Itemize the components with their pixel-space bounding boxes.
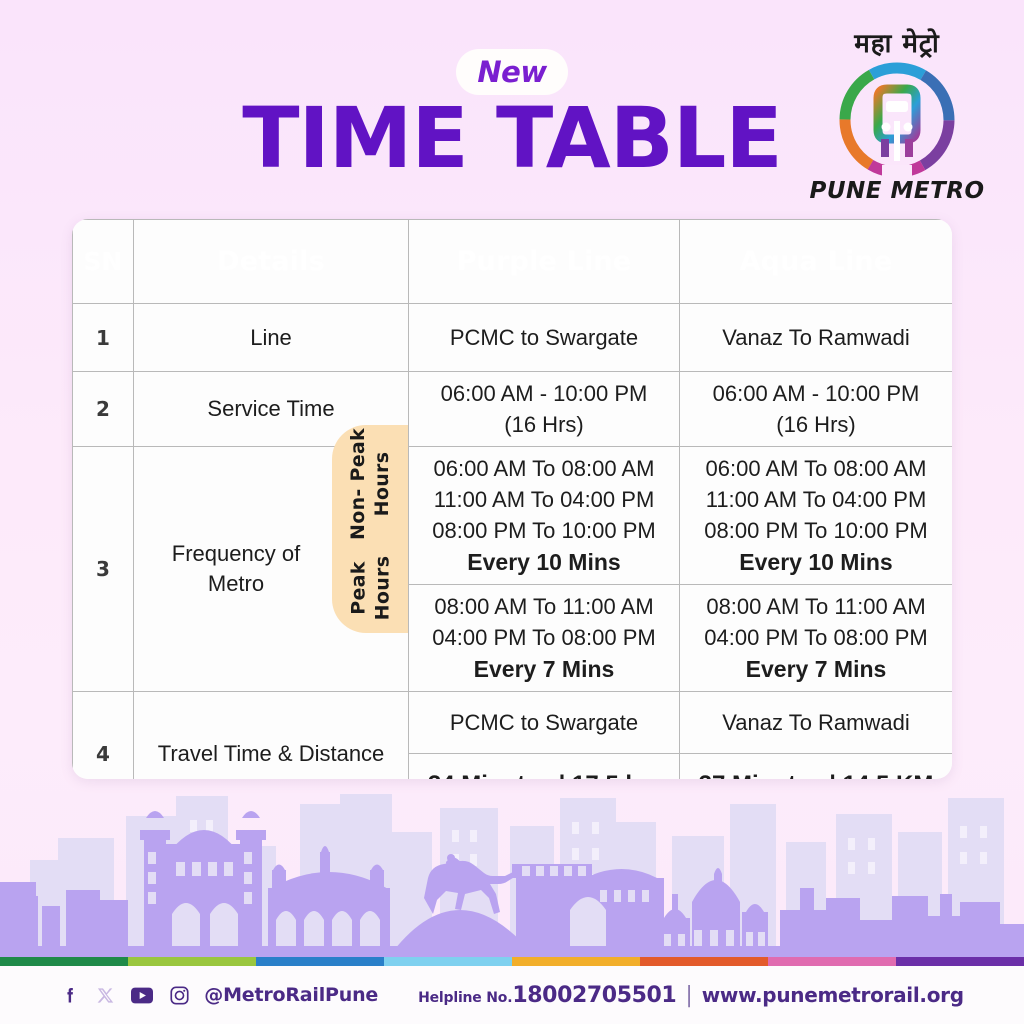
table-row: 1 Line PCMC to Swargate Vanaz To Ramwadi bbox=[73, 304, 953, 372]
strip-seg-2 bbox=[128, 957, 256, 966]
row-detail: Line bbox=[134, 304, 409, 372]
peak-purple-frequency: Every 7 Mins bbox=[413, 654, 675, 685]
social-links bbox=[60, 985, 190, 1006]
row-detail: Travel Time & Distance bbox=[134, 692, 409, 780]
logo-wordmark: PUNE METRO bbox=[808, 178, 986, 204]
row-aqua-value: 06:00 AM To 08:00 AM11:00 AM To 04:00 PM… bbox=[680, 447, 953, 585]
timetable: SN Details Purple Line Aqua Line 1 Line … bbox=[72, 219, 952, 779]
strip-seg-4 bbox=[384, 957, 512, 966]
row-aqua-value: Vanaz To Ramwadi bbox=[680, 304, 953, 372]
peak-aqua-times: 08:00 AM To 11:00 AM04:00 PM To 08:00 PM bbox=[684, 591, 948, 653]
color-strip bbox=[0, 957, 1024, 966]
peak-label-line1: Peak bbox=[347, 561, 369, 614]
helpline-number[interactable]: 18002705501 bbox=[512, 983, 676, 1008]
strip-seg-6 bbox=[640, 957, 768, 966]
row-sn: 1 bbox=[73, 304, 134, 372]
peak-hours-badge: Peak Hours bbox=[332, 543, 408, 633]
column-header-details: Details bbox=[134, 220, 409, 304]
table-row: 3 Frequency of Metro 06:00 AM To 08:00 A… bbox=[73, 447, 953, 585]
peak-label-line2: Hours bbox=[370, 556, 394, 621]
logo-devanagari-text: महा मेट्रो bbox=[808, 24, 986, 60]
travel-purple-stat: 34 Minutes | 17.5 km bbox=[409, 754, 680, 780]
row-purple-value: 06:00 AM - 10:00 PM (16 Hrs) bbox=[409, 372, 680, 447]
column-header-aqua-line: Aqua Line bbox=[680, 220, 953, 304]
non-peak-purple-frequency: Every 10 Mins bbox=[413, 547, 675, 578]
travel-purple-route: PCMC to Swargate bbox=[409, 692, 680, 754]
non-peak-aqua-times: 06:00 AM To 08:00 AM11:00 AM To 04:00 PM… bbox=[684, 453, 948, 546]
service-time-line2: (16 Hrs) bbox=[684, 409, 948, 440]
city-skyline-illustration bbox=[0, 778, 1024, 958]
facebook-icon[interactable] bbox=[60, 985, 80, 1005]
row-aqua-value: 08:00 AM To 11:00 AM04:00 PM To 08:00 PM… bbox=[680, 585, 953, 692]
column-header-sn: SN bbox=[73, 220, 134, 304]
strip-seg-7 bbox=[768, 957, 896, 966]
helpline-label: Helpline No. bbox=[418, 990, 512, 1006]
youtube-icon[interactable] bbox=[131, 987, 153, 1004]
table-row: 2 Service Time 06:00 AM - 10:00 PM (16 H… bbox=[73, 372, 953, 447]
service-time-line1: 06:00 AM - 10:00 PM bbox=[684, 378, 948, 409]
row-detail-label: Frequency of Metro bbox=[172, 541, 300, 596]
row-aqua-value: 06:00 AM - 10:00 PM (16 Hrs) bbox=[680, 372, 953, 447]
row-purple-value: 06:00 AM To 08:00 AM11:00 AM To 04:00 PM… bbox=[409, 447, 680, 585]
website-link[interactable]: www.punemetrorail.org bbox=[702, 983, 964, 1007]
travel-aqua-route: Vanaz To Ramwadi bbox=[680, 692, 953, 754]
strip-seg-3 bbox=[256, 957, 384, 966]
non-peak-label-line2: Hours bbox=[370, 428, 394, 540]
page-footer: @MetroRailPune Helpline No. 18002705501 … bbox=[0, 966, 1024, 1024]
row-sn: 4 bbox=[73, 692, 134, 780]
instagram-icon[interactable] bbox=[169, 985, 190, 1006]
pune-metro-logo: महा मेट्रो bbox=[808, 24, 986, 204]
table-header-row: SN Details Purple Line Aqua Line bbox=[73, 220, 953, 304]
table-row: 4 Travel Time & Distance PCMC to Swargat… bbox=[73, 692, 953, 754]
row-sn: 3 bbox=[73, 447, 134, 692]
footer-separator: | bbox=[685, 983, 692, 1008]
row-sn: 2 bbox=[73, 372, 134, 447]
strip-seg-8 bbox=[896, 957, 1024, 966]
peak-aqua-frequency: Every 7 Mins bbox=[684, 654, 948, 685]
peak-purple-times: 08:00 AM To 11:00 AM04:00 PM To 08:00 PM bbox=[413, 591, 675, 653]
non-peak-aqua-frequency: Every 10 Mins bbox=[684, 547, 948, 578]
row-purple-value: 08:00 AM To 11:00 AM04:00 PM To 08:00 PM… bbox=[409, 585, 680, 692]
timetable-card: SN Details Purple Line Aqua Line 1 Line … bbox=[72, 219, 952, 779]
non-peak-label-line1: Non- Peak bbox=[347, 428, 369, 540]
social-handle[interactable]: @MetroRailPune bbox=[204, 984, 378, 1006]
service-time-line2: (16 Hrs) bbox=[413, 409, 675, 440]
page-header: New TIME TABLE महा मेट्रो bbox=[0, 0, 1024, 212]
helpline-block: Helpline No. 18002705501 | www.punemetro… bbox=[418, 983, 964, 1008]
column-header-purple-line: Purple Line bbox=[409, 220, 680, 304]
service-time-line1: 06:00 AM - 10:00 PM bbox=[413, 378, 675, 409]
x-twitter-icon[interactable] bbox=[96, 986, 115, 1005]
row-purple-value: PCMC to Swargate bbox=[409, 304, 680, 372]
metro-train-icon bbox=[834, 57, 960, 183]
new-badge-label: New bbox=[477, 55, 546, 89]
travel-aqua-stat: 37 Minutes | 14.5 KM bbox=[680, 754, 953, 780]
strip-seg-5 bbox=[512, 957, 640, 966]
non-peak-purple-times: 06:00 AM To 08:00 AM11:00 AM To 04:00 PM… bbox=[413, 453, 675, 546]
strip-seg-1 bbox=[0, 957, 128, 966]
non-peak-hours-badge: Non- Peak Hours bbox=[332, 425, 408, 543]
